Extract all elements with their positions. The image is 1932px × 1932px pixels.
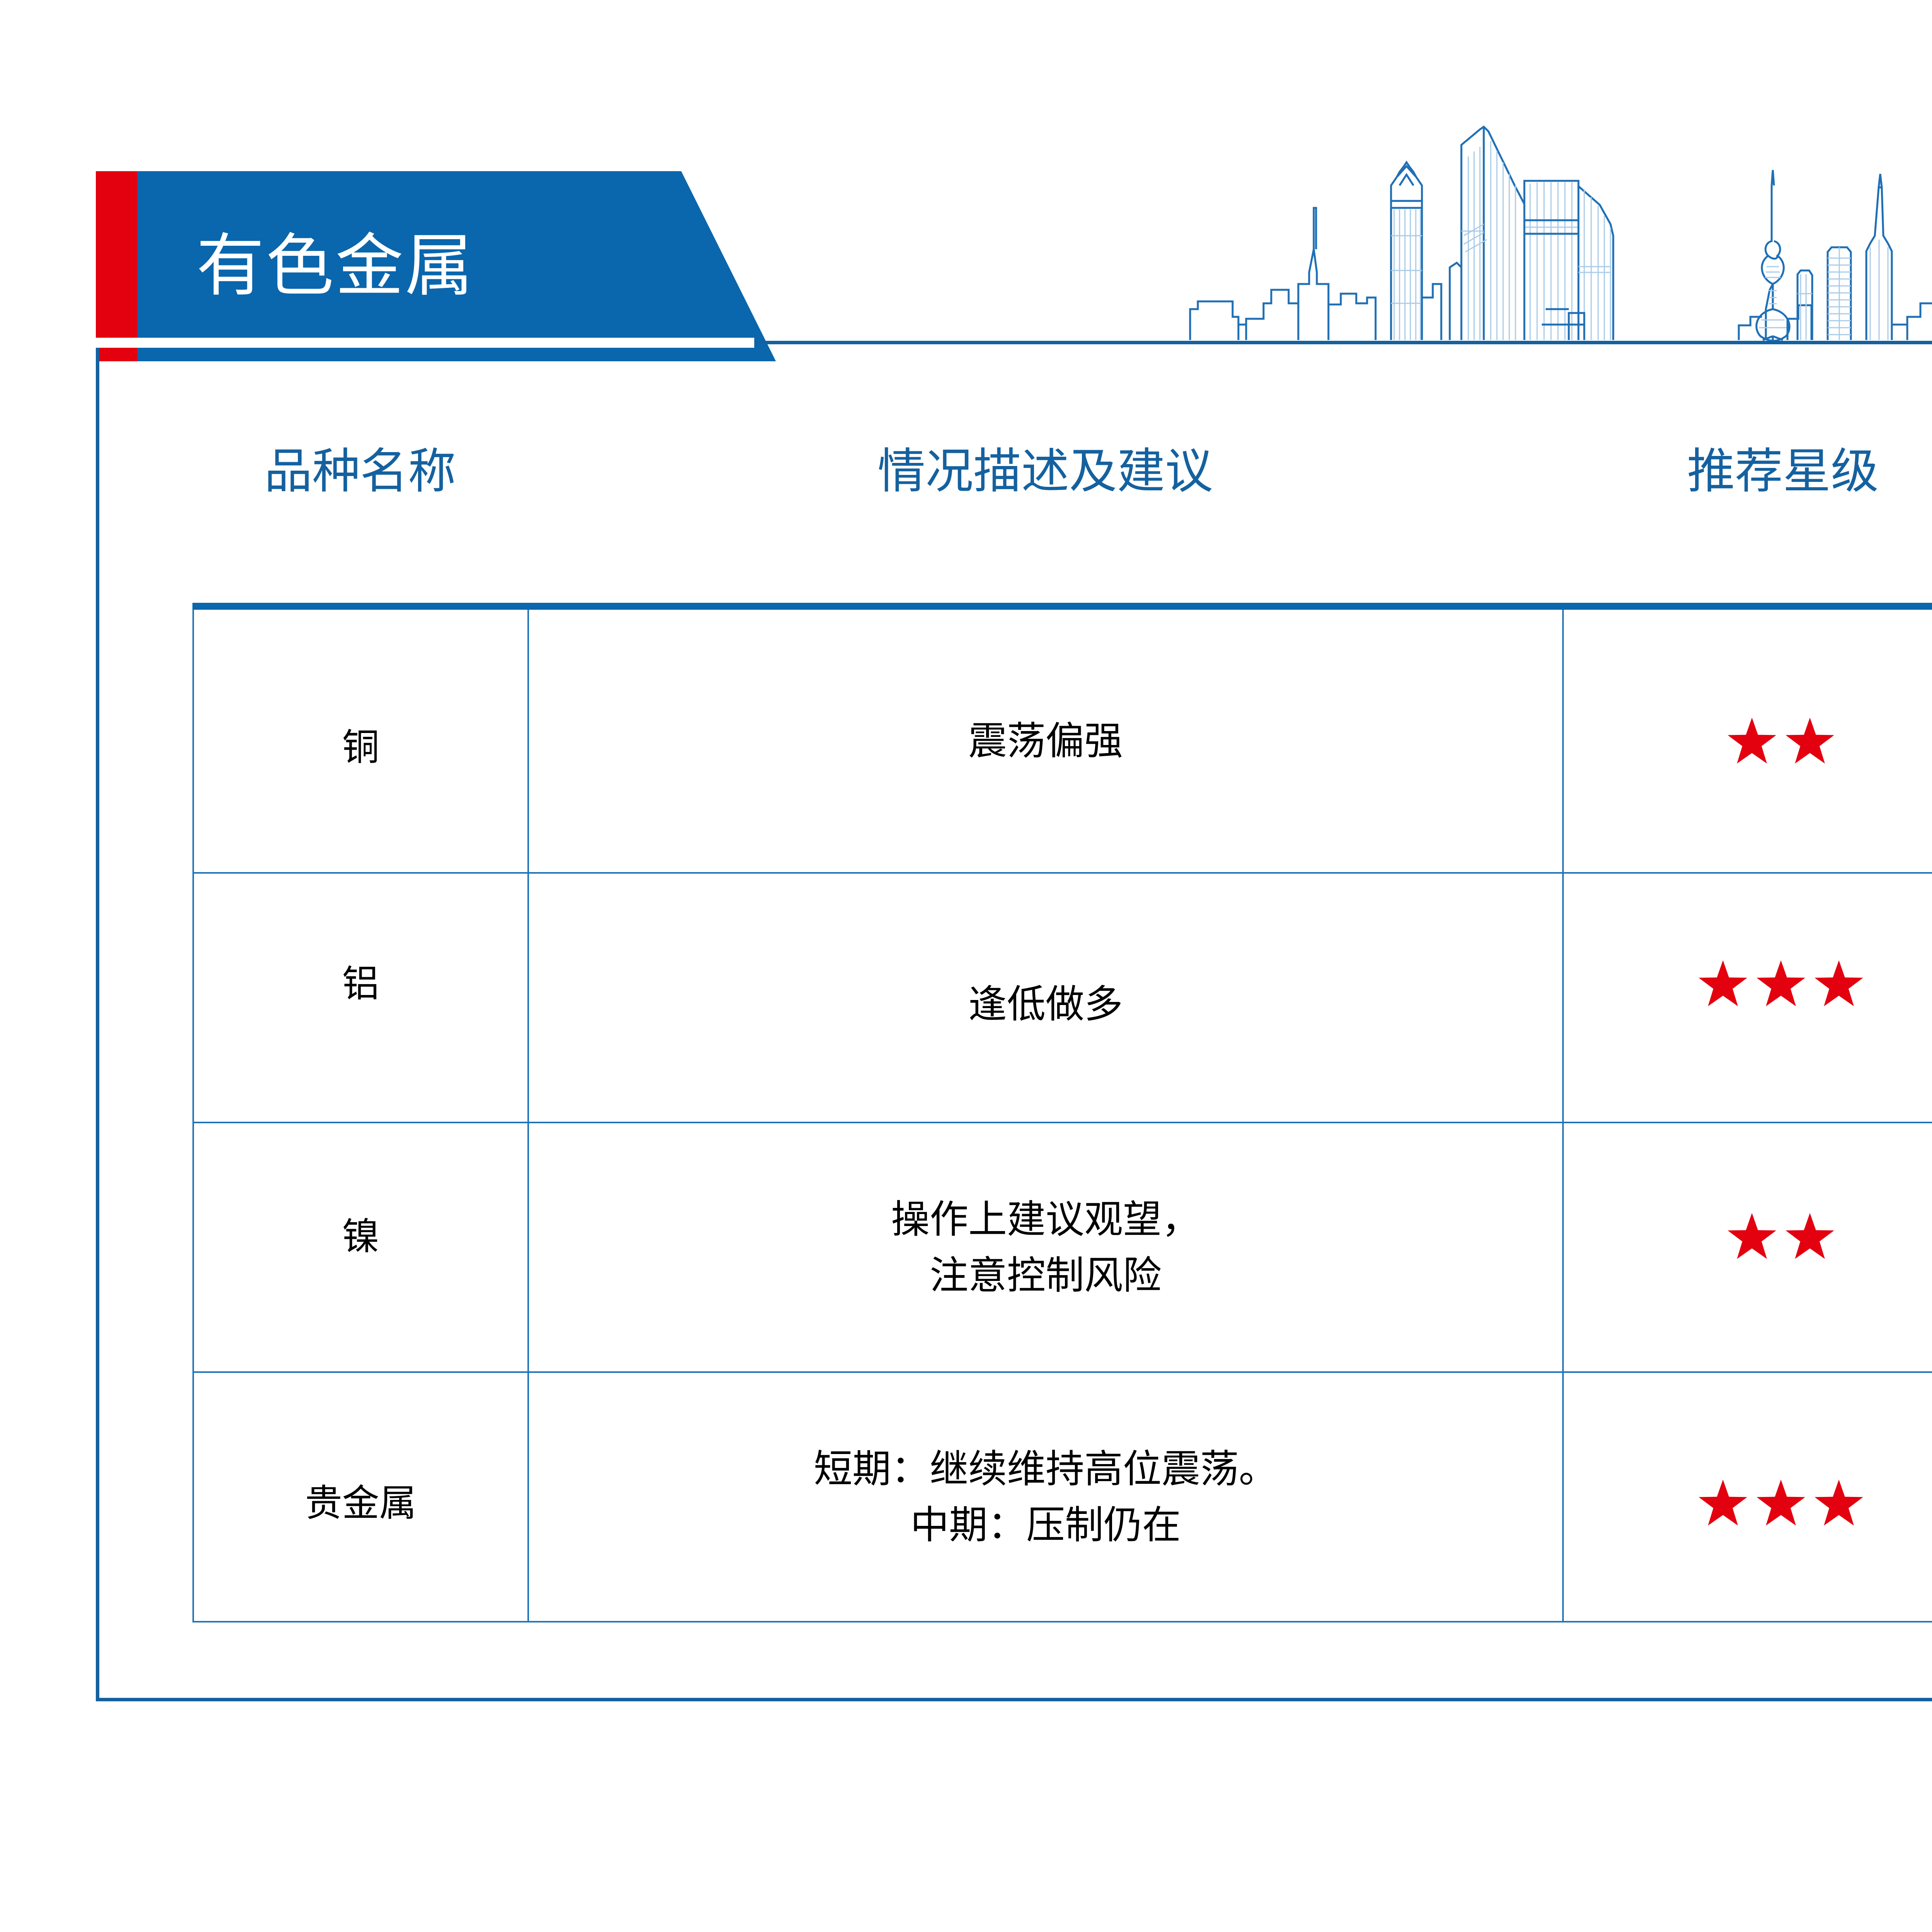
description-line: 注意控制风险 xyxy=(529,1247,1562,1303)
star-rating xyxy=(1564,716,1932,767)
table-row: 贵金属 短期：继续维持高位震荡。 中期：压制仍在 xyxy=(193,1372,1932,1622)
cell-star-rating xyxy=(1563,606,1932,873)
variety-name-text: 贵金属 xyxy=(305,1481,417,1525)
description-line: 短期：继续维持高位震荡。 xyxy=(529,1441,1562,1497)
cell-description: 短期：继续维持高位震荡。 中期：压制仍在 xyxy=(528,1372,1563,1622)
table-column-headers: 品种名称 情况描述及建议 推荐星级 xyxy=(96,413,1932,529)
description-line: 震荡偏强 xyxy=(529,713,1562,769)
star-icon xyxy=(1784,716,1835,767)
cell-variety-name: 镍 xyxy=(193,1122,528,1372)
star-rating xyxy=(1564,1211,1932,1262)
variety-name-text: 铝 xyxy=(342,962,379,1005)
cell-variety-name: 铝 xyxy=(193,873,528,1122)
column-header-variety-name: 品种名称 xyxy=(192,413,528,529)
star-icon xyxy=(1697,958,1748,1009)
cell-description: 震荡偏强 xyxy=(528,606,1563,873)
table-row: 镍 操作上建议观望， 注意控制风险 xyxy=(193,1122,1932,1372)
star-icon xyxy=(1726,716,1777,767)
table-row: 铜 震荡偏强 xyxy=(193,606,1932,873)
star-icon xyxy=(1784,1211,1835,1262)
column-header-description: 情况描述及建议 xyxy=(528,413,1563,529)
variety-recommendation-table: 铜 震荡偏强 铝 逢低做多 镍 操作上建议观望， xyxy=(192,603,1932,1622)
banner-red-accent-bar xyxy=(96,171,137,361)
star-icon xyxy=(1697,1478,1748,1529)
star-icon xyxy=(1755,1478,1806,1529)
star-rating xyxy=(1564,958,1932,1009)
cell-star-rating xyxy=(1563,1372,1932,1622)
cell-star-rating xyxy=(1563,1122,1932,1372)
table-row: 铝 逢低做多 xyxy=(193,873,1932,1122)
star-icon xyxy=(1813,958,1864,1009)
description-line: 操作上建议观望， xyxy=(529,1191,1562,1247)
page-title: 有色金属 xyxy=(196,231,474,302)
variety-name-text: 铜 xyxy=(342,726,379,769)
star-icon xyxy=(1726,1211,1777,1262)
cell-description: 逢低做多 xyxy=(528,873,1563,1122)
cell-variety-name: 贵金属 xyxy=(193,1372,528,1622)
frame-top-gap-mask xyxy=(93,338,754,348)
cell-star-rating xyxy=(1563,873,1932,1122)
star-icon xyxy=(1813,1478,1864,1529)
variety-name-text: 镍 xyxy=(342,1215,379,1258)
cell-variety-name: 铜 xyxy=(193,606,528,873)
star-rating xyxy=(1564,1478,1932,1529)
column-header-star-rating: 推荐星级 xyxy=(1563,413,1932,529)
description-line: 逢低做多 xyxy=(529,976,1562,1032)
cell-description: 操作上建议观望， 注意控制风险 xyxy=(528,1122,1563,1372)
section-banner: 有色金属 xyxy=(96,171,776,361)
description-line: 中期：压制仍在 xyxy=(529,1497,1562,1553)
shanghai-skyline-illustration xyxy=(1175,108,1932,342)
star-icon xyxy=(1755,958,1806,1009)
